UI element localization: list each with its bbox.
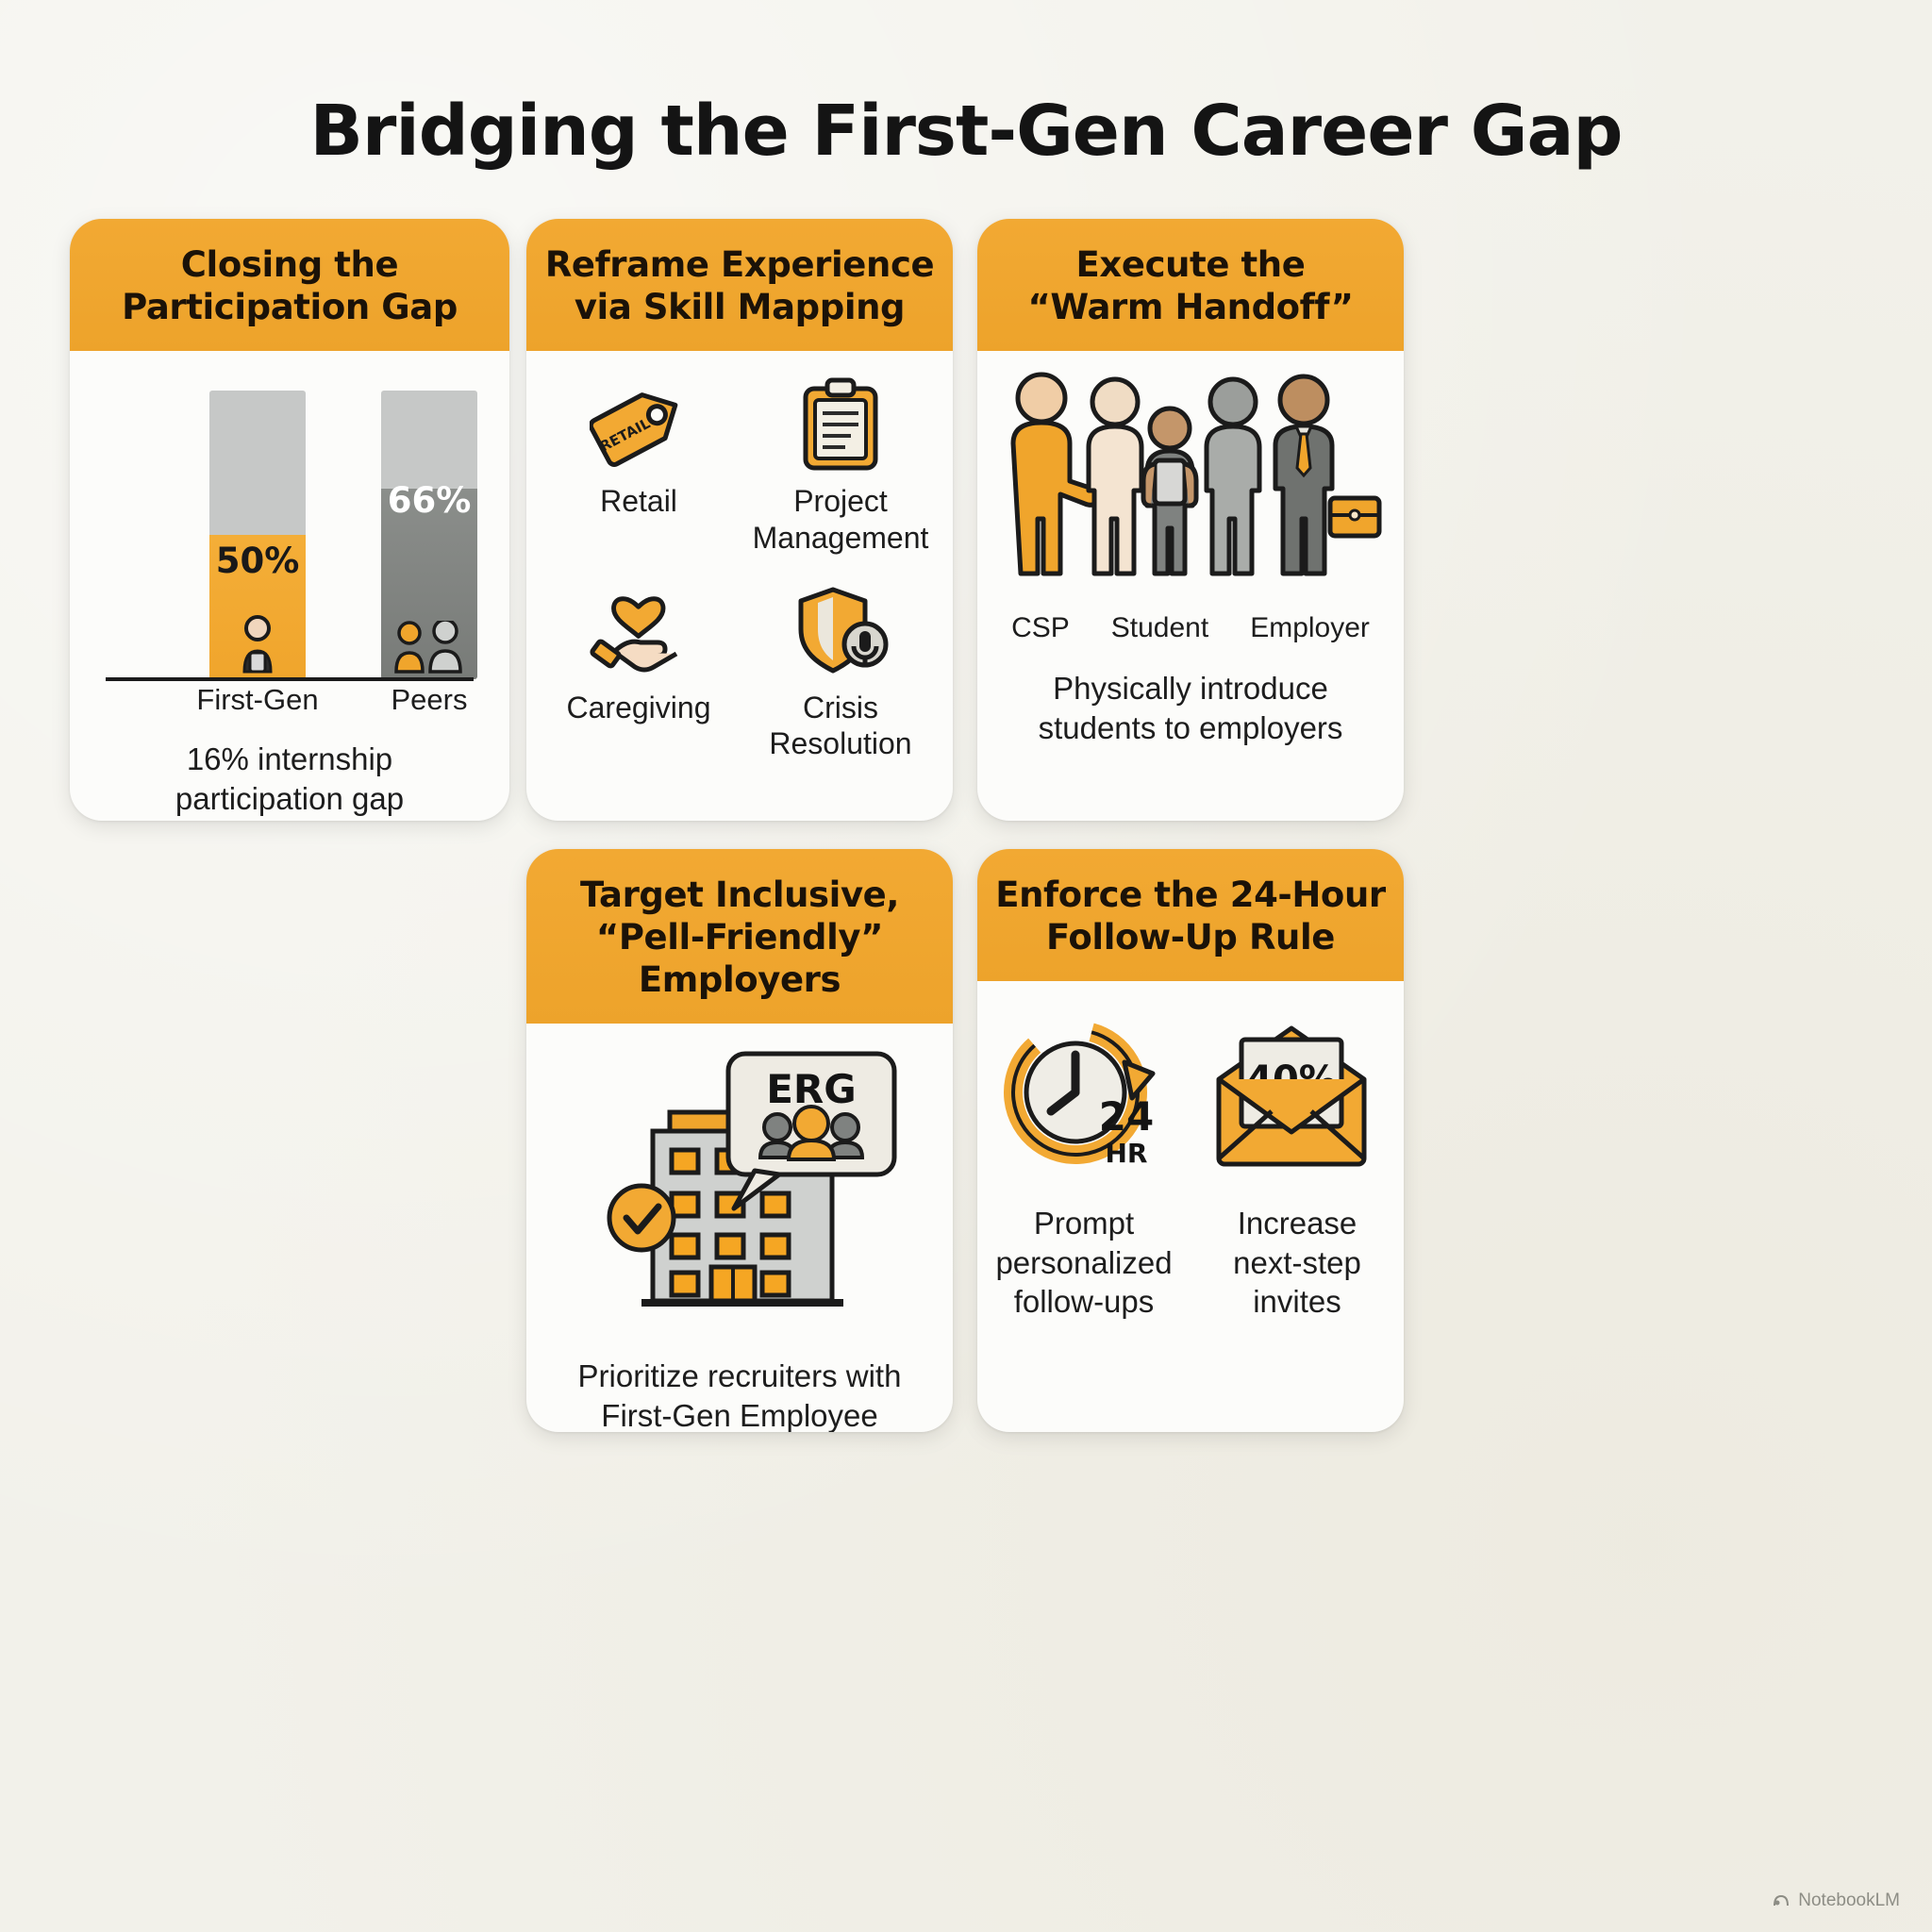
handoff-caption-line2: students to employers — [1039, 708, 1343, 748]
role-label-student: Student — [1111, 612, 1208, 644]
card-title-line1: Execute the — [991, 243, 1391, 286]
clock-unit: HR — [1106, 1138, 1148, 1169]
followup-caption-right: Increase next-step invites — [1207, 1204, 1387, 1322]
skill-label-retail: Retail — [600, 483, 677, 519]
participation-caption: 16% internship participation gap — [175, 740, 404, 818]
card-title-line2: “Warm Handoff” — [991, 286, 1391, 328]
card-header-handoff: Execute the “Warm Handoff” — [977, 219, 1404, 351]
bar-value-peers: 66% — [381, 480, 477, 521]
people-group-illustration — [992, 366, 1389, 607]
followup-icons: 24 HR 40% — [1000, 1013, 1381, 1183]
card-body-handoff: CSP Student Employer Physically introduc… — [977, 351, 1404, 821]
skill-item-caregiving[interactable]: Caregiving — [540, 582, 738, 762]
notebooklm-logo-icon — [1772, 1893, 1790, 1908]
page-title: Bridging the First-Gen Career Gap — [0, 91, 1932, 172]
erg-caption-line2: First-Gen Employee — [561, 1396, 918, 1432]
followup-captions: Prompt personalized follow-ups Increase … — [994, 1204, 1387, 1322]
clock-number: 24 — [1099, 1093, 1154, 1140]
bar-label-first-gen: First-Gen — [187, 683, 328, 717]
followup-left-line1: Prompt — [994, 1204, 1174, 1243]
student-figure-icon — [236, 615, 279, 674]
bar-chart: 50% 66% — [70, 357, 509, 715]
card-header-skills: Reframe Experience via Skill Mapping — [526, 219, 953, 351]
followup-right-line3: invites — [1207, 1282, 1387, 1322]
handoff-caption: Physically introduce students to employe… — [1039, 669, 1343, 747]
figure-grey-icon — [1207, 379, 1259, 574]
skill-item-crisis-resolution[interactable]: Crisis Resolution — [741, 582, 940, 762]
clipboard-icon — [796, 375, 885, 474]
bar-label-peers: Peers — [358, 683, 500, 717]
peer-figures-icon — [389, 621, 470, 674]
skill-label-line1: Crisis — [769, 690, 911, 725]
card-title-line1: Closing the — [83, 243, 496, 286]
participation-caption-line1: 16% internship — [175, 740, 404, 779]
erg-building-illustration: ERG — [579, 1050, 900, 1338]
skill-label-project-management: Project Management — [753, 483, 929, 556]
bar-track-first-gen: 50% — [209, 391, 306, 679]
clock-24hr-icon: 24 HR — [1000, 1013, 1179, 1183]
card-title-line2: “Pell-Friendly” Employers — [540, 916, 940, 1001]
card-body-skills: RETAIL Retail — [526, 351, 953, 821]
figure-student-icon — [1143, 408, 1196, 574]
watermark-label: NotebookLM — [1798, 1890, 1900, 1911]
figure-employer-icon — [1275, 376, 1379, 574]
skill-label-crisis-resolution: Crisis Resolution — [769, 690, 911, 762]
role-label-csp: CSP — [1011, 612, 1070, 644]
skill-label-line1: Project — [753, 483, 929, 519]
skill-item-project-management[interactable]: Project Management — [741, 375, 940, 556]
followup-right-line2: next-step — [1207, 1243, 1387, 1283]
card-body-participation: 50% 66% — [70, 351, 509, 821]
participation-caption-line2: participation gap — [175, 779, 404, 819]
envelope-40-percent-icon: 40% — [1202, 1013, 1381, 1183]
followup-right-line1: Increase — [1207, 1204, 1387, 1243]
card-24-hour-follow-up: Enforce the 24-Hour Follow-Up Rule 24 HR… — [977, 849, 1404, 1432]
card-closing-participation-gap: Closing the Participation Gap 50% — [70, 219, 509, 821]
figure-light-icon — [1089, 379, 1141, 574]
price-tag-icon: RETAIL — [590, 375, 688, 474]
bar-track-peers: 66% — [381, 391, 477, 679]
card-warm-handoff: Execute the “Warm Handoff” — [977, 219, 1404, 821]
card-header-participation: Closing the Participation Gap — [70, 219, 509, 351]
skill-item-retail[interactable]: RETAIL Retail — [540, 375, 738, 556]
card-title-line2: Follow-Up Rule — [991, 916, 1391, 958]
figure-csp-icon — [1013, 375, 1099, 574]
card-title-line1: Target Inclusive, — [540, 874, 940, 916]
shield-microphone-icon — [791, 582, 890, 680]
card-header-followup: Enforce the 24-Hour Follow-Up Rule — [977, 849, 1404, 981]
role-label-employer: Employer — [1250, 612, 1370, 644]
followup-caption-left: Prompt personalized follow-ups — [994, 1204, 1174, 1322]
skill-grid: RETAIL Retail — [526, 351, 953, 762]
skill-label-line2: Resolution — [769, 725, 911, 761]
skill-label-caregiving: Caregiving — [567, 690, 711, 725]
card-reframe-experience: Reframe Experience via Skill Mapping RET… — [526, 219, 953, 821]
erg-caption-line1: Prioritize recruiters with — [561, 1357, 918, 1396]
card-pell-friendly-employers: Target Inclusive, “Pell-Friendly” Employ… — [526, 849, 953, 1432]
card-header-erg: Target Inclusive, “Pell-Friendly” Employ… — [526, 849, 953, 1024]
card-title-line1: Enforce the 24-Hour — [991, 874, 1391, 916]
card-title-line1: Reframe Experience — [540, 243, 940, 286]
watermark: NotebookLM — [1772, 1890, 1900, 1911]
bar-first-gen: 50% — [209, 391, 306, 679]
card-body-erg: ERG Prioritize recruiters with First-Gen… — [526, 1024, 953, 1432]
hand-heart-icon — [586, 582, 691, 680]
skill-label-line2: Management — [753, 520, 929, 556]
card-title-line2: via Skill Mapping — [540, 286, 940, 328]
card-body-followup: 24 HR 40% Prompt personalized follow-ups… — [977, 981, 1404, 1432]
bar-value-first-gen: 50% — [209, 541, 306, 581]
bar-peers: 66% — [381, 391, 477, 679]
chart-axis-line — [106, 677, 474, 681]
followup-left-line2: personalized — [994, 1243, 1174, 1283]
followup-left-line3: follow-ups — [994, 1282, 1174, 1322]
role-labels: CSP Student Employer — [1011, 612, 1370, 644]
erg-caption: Prioritize recruiters with First-Gen Emp… — [561, 1357, 918, 1432]
card-title-line2: Participation Gap — [83, 286, 496, 328]
handoff-caption-line1: Physically introduce — [1039, 669, 1343, 708]
